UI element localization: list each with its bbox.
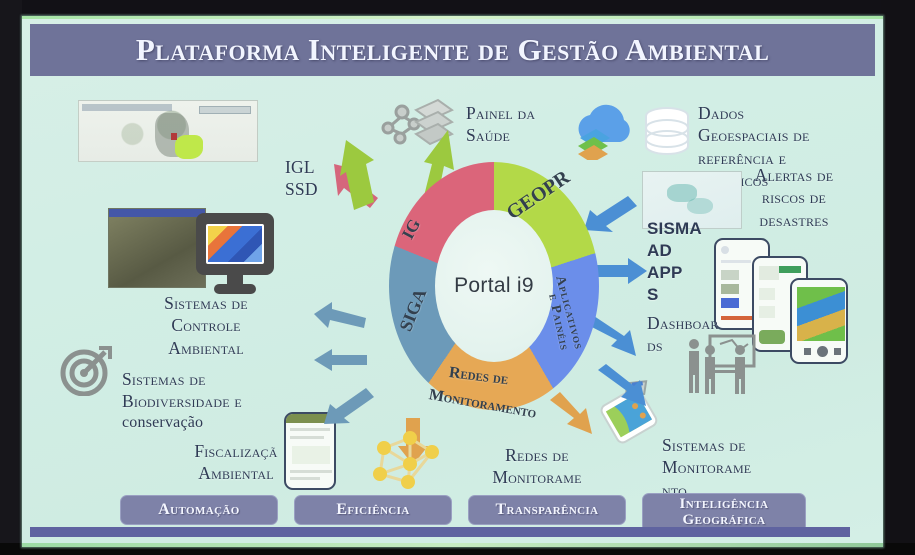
presentation-people-icon bbox=[684, 334, 764, 401]
portal-wheel-diagram: Portal i9 GEOPR Aplicativos e Painéis Re… bbox=[377, 148, 609, 426]
label-apps: APP S bbox=[647, 262, 707, 306]
pill-inteligencia-label-1: Inteligência bbox=[680, 497, 769, 513]
label-apps-2: S bbox=[647, 284, 707, 306]
pill-automacao[interactable]: Automação bbox=[120, 495, 278, 525]
slide-title-bar: Plataforma Inteligente de Gestão Ambient… bbox=[30, 24, 875, 76]
page-title: Plataforma Inteligente de Gestão Ambient… bbox=[136, 32, 769, 68]
target-icon bbox=[60, 346, 112, 401]
label-redesmonit-1: Redes de bbox=[462, 444, 612, 466]
wheel-center: Portal i9 bbox=[435, 210, 553, 362]
app-mockup-phone-3 bbox=[790, 278, 848, 364]
monitor-icon bbox=[194, 211, 276, 302]
pill-eficiencia[interactable]: Eficiência bbox=[294, 495, 452, 525]
label-dashboards-1: Dashboar bbox=[647, 312, 757, 334]
database-icon bbox=[642, 106, 692, 165]
arrow-green-up-left bbox=[340, 134, 380, 212]
label-fiscalizacao-ambiental: Fiscalizaçã Ambiental bbox=[146, 440, 326, 485]
projection-glow-top bbox=[22, 16, 883, 19]
label-sistmonit-2: Monitorame bbox=[662, 456, 812, 478]
label-sistemas-controle-ambiental: Sistemas de Controle Ambiental bbox=[126, 292, 286, 359]
portal-label: Portal i9 bbox=[454, 274, 534, 298]
label-fiscalizacao-2: Ambiental bbox=[146, 462, 326, 484]
label-controle-1: Sistemas de bbox=[126, 292, 286, 314]
label-biodiv-1: Sistemas de bbox=[122, 368, 312, 390]
label-sismaad-1: SISMA bbox=[647, 218, 727, 240]
pill-automacao-label: Automação bbox=[158, 502, 240, 519]
label-controle-3: Ambiental bbox=[126, 337, 286, 359]
projector-surround-left bbox=[0, 0, 22, 555]
arrow-steel-left-mid bbox=[314, 346, 368, 374]
projection-glow-bottom bbox=[22, 543, 883, 547]
label-sistemas-monitoramento: Sistemas de Monitorame nto bbox=[662, 434, 812, 501]
control-system-screenshot bbox=[108, 208, 206, 288]
projected-screen: Plataforma Inteligente de Gestão Ambient… bbox=[0, 0, 915, 555]
gis-map-thumbnail bbox=[78, 100, 258, 162]
pill-transparencia-label: Transparência bbox=[495, 502, 598, 519]
label-sistmonit-1: Sistemas de bbox=[662, 434, 812, 456]
footer-accent-bar bbox=[30, 527, 850, 537]
projector-surround-right bbox=[881, 0, 915, 555]
presentation-slide: Plataforma Inteligente de Gestão Ambient… bbox=[22, 16, 883, 547]
pill-transparencia[interactable]: Transparência bbox=[468, 495, 626, 525]
label-fiscalizacao-1: Fiscalizaçã bbox=[146, 440, 326, 462]
label-dados-2: Geoespaciais de bbox=[698, 124, 878, 146]
arrow-steel-left-top bbox=[314, 300, 368, 334]
label-apps-1: APP bbox=[647, 262, 707, 284]
node-graph-icon bbox=[370, 430, 452, 497]
pill-eficiencia-label: Eficiência bbox=[336, 502, 409, 519]
label-controle-2: Controle bbox=[126, 314, 286, 336]
label-dados-1: Dados bbox=[698, 102, 878, 124]
label-redesmonit-2: Monitorame bbox=[462, 466, 612, 488]
label-biodiv-2: Biodiversidade e bbox=[122, 390, 312, 412]
arrow-steel-left-bottom bbox=[322, 388, 378, 428]
